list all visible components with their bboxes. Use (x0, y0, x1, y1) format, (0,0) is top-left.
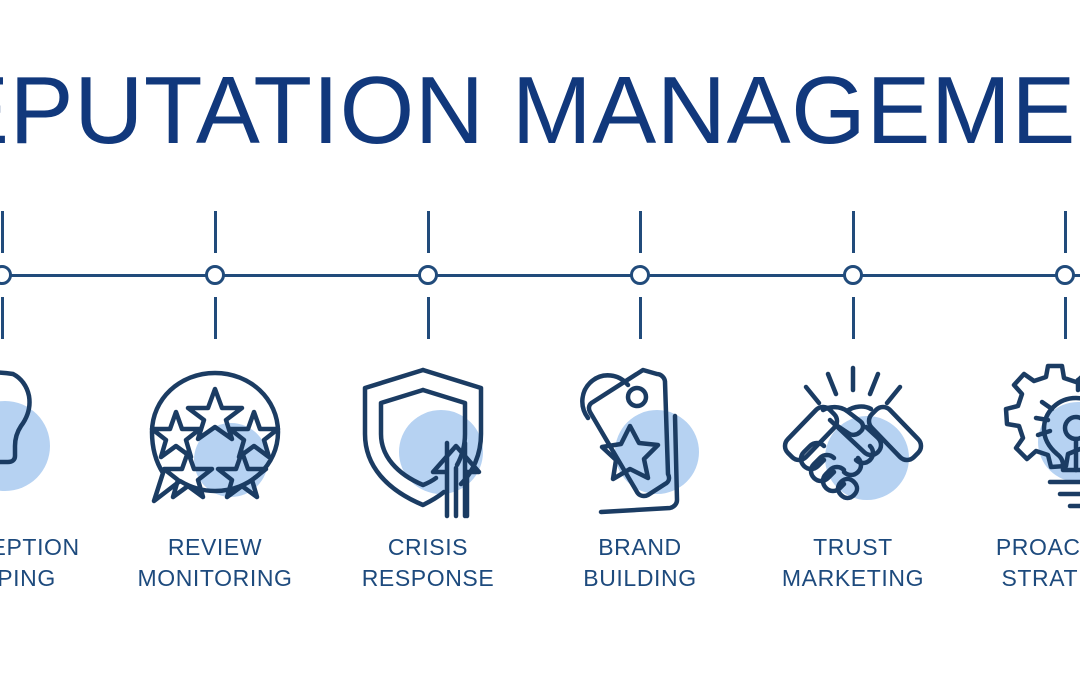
timeline-circle-marker-icon[interactable] (418, 265, 438, 285)
shield-up-arrow-icon (343, 360, 513, 520)
handshake-icon (768, 360, 938, 520)
step-label-6: PROACTIVE STRATEGY (935, 532, 1080, 594)
timeline-tick-top-icon (1, 211, 4, 253)
step-icon-5[interactable] (768, 360, 938, 520)
speech-bubble-stars-icon (130, 360, 300, 520)
page-title: REPUTATION MANAGEMENT (0, 52, 1080, 170)
step-label-6-line1: PROACTIVE (935, 532, 1080, 563)
timeline-circle-marker-icon[interactable] (0, 265, 12, 285)
step-icon-1[interactable] (0, 360, 87, 520)
step-icon-6[interactable] (980, 360, 1080, 520)
gear-lightbulb-icon (980, 360, 1080, 520)
timeline-circle-marker-icon[interactable] (843, 265, 863, 285)
timeline-tick-top-icon (1064, 211, 1067, 253)
timeline-circle-marker-icon[interactable] (205, 265, 225, 285)
timeline-axis-line (0, 274, 1080, 277)
timeline-tick-bottom-icon (639, 297, 642, 339)
timeline-tick-top-icon (427, 211, 430, 253)
page-title-container: REPUTATION MANAGEMENT (0, 52, 1080, 170)
label-row: PERCEPTION SHAPING REVIEW MONITORING CRI… (0, 532, 1080, 612)
timeline-tick-bottom-icon (852, 297, 855, 339)
timeline-tick-bottom-icon (427, 297, 430, 339)
step-icon-4[interactable] (555, 360, 725, 520)
timeline-tick-bottom-icon (1, 297, 4, 339)
timeline-tick-top-icon (639, 211, 642, 253)
icon-row (0, 360, 1080, 530)
timeline-tick-top-icon (214, 211, 217, 253)
step-icon-3[interactable] (343, 360, 513, 520)
timeline-tick-top-icon (852, 211, 855, 253)
head-profile-target-icon (0, 360, 87, 520)
timeline-circle-marker-icon[interactable] (630, 265, 650, 285)
reputation-management-banner: REPUTATION MANAGEMENT (0, 0, 1080, 675)
step-label-6-line2: STRATEGY (935, 563, 1080, 594)
timeline-circle-marker-icon[interactable] (1055, 265, 1075, 285)
step-icon-2[interactable] (130, 360, 300, 520)
timeline (0, 205, 1080, 345)
price-tags-star-icon (555, 360, 725, 520)
timeline-tick-bottom-icon (214, 297, 217, 339)
timeline-tick-bottom-icon (1064, 297, 1067, 339)
